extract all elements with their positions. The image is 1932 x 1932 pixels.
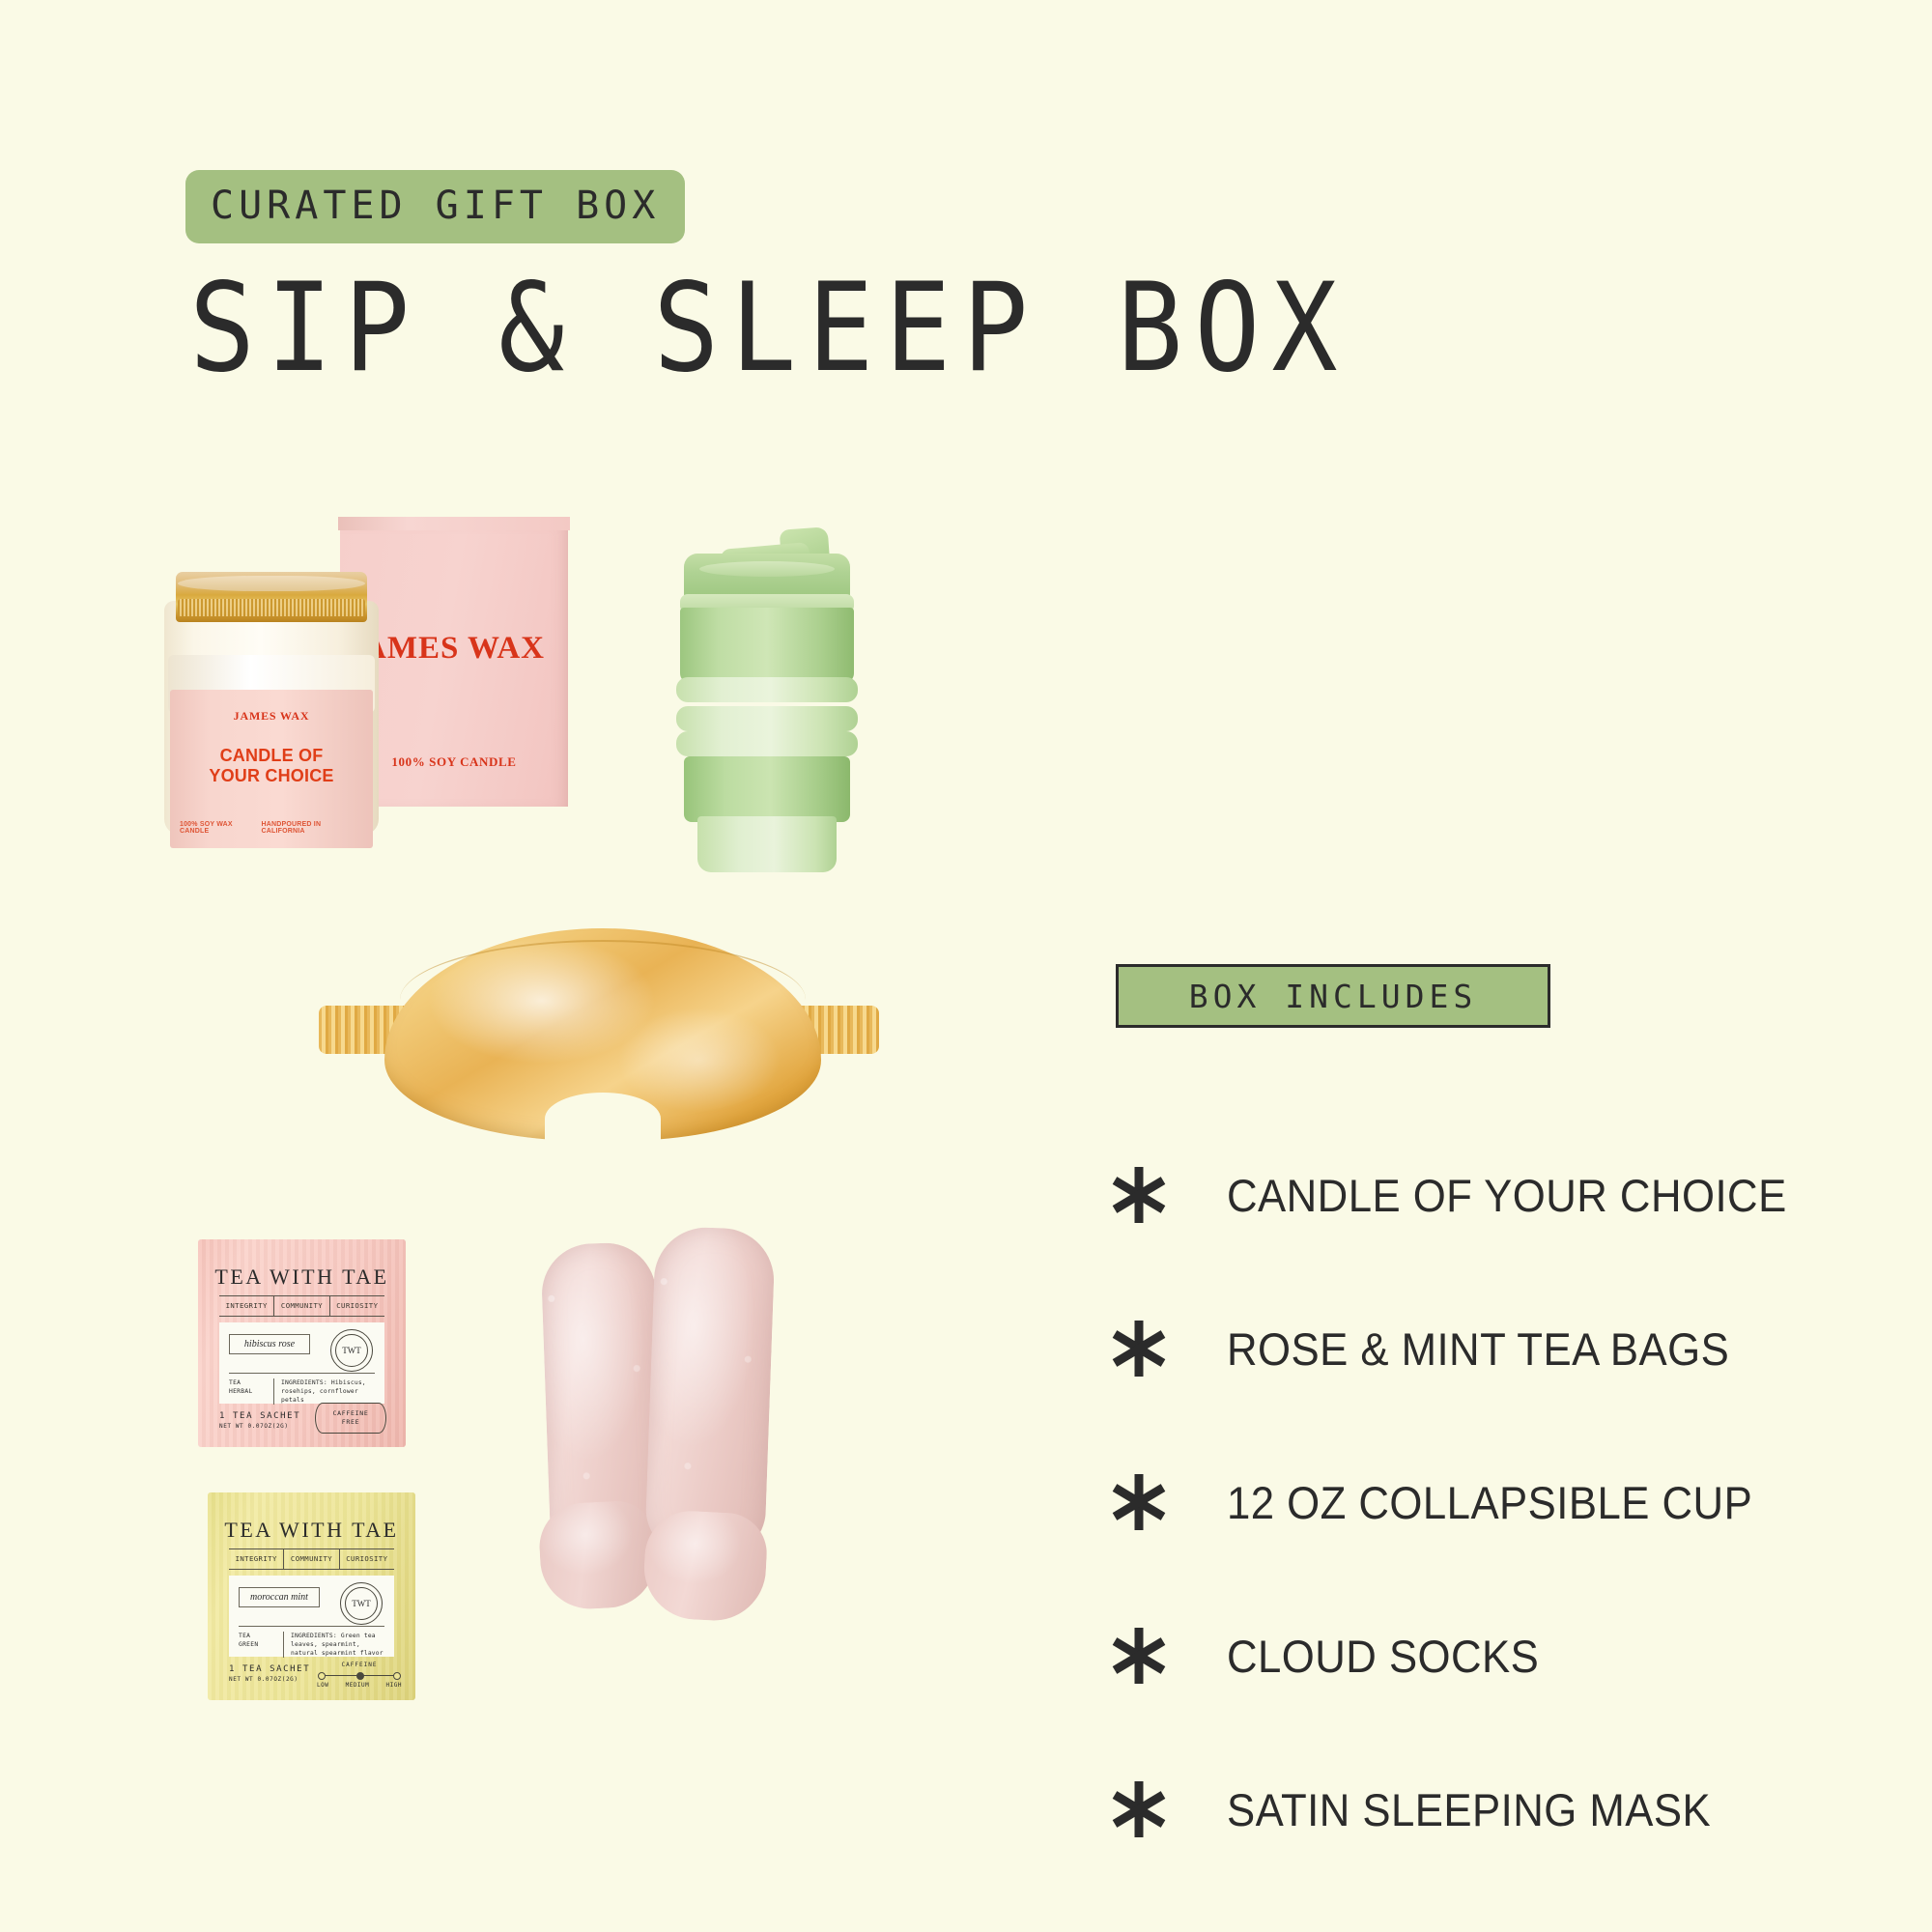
caffeine-label-high: HIGH <box>386 1682 402 1689</box>
sachet-type-line2-yellow: GREEN <box>239 1640 279 1649</box>
caffeine-dot-high <box>393 1672 401 1680</box>
cup-fold-ring <box>676 706 858 731</box>
sachet-seal-icon-yellow: TWT <box>340 1582 383 1625</box>
list-item-label: 12 OZ COLLAPSIBLE CUP <box>1227 1476 1752 1529</box>
sachet-brand-yellow: TEA WITH TAE <box>208 1518 415 1543</box>
caffeine-dot-medium <box>356 1672 364 1680</box>
candle-jar-headline-line1: CANDLE OF <box>170 746 373 766</box>
sachet-caffeine-line1: CAFFEINE <box>333 1409 369 1418</box>
sachet-brand-pink: TEA WITH TAE <box>198 1264 406 1290</box>
cup-fold-ring <box>676 677 858 702</box>
tea-sachet-moroccan-mint: TEA WITH TAE INTEGRITY COMMUNITY CURIOSI… <box>208 1492 415 1700</box>
sachet-count-yellow: 1 TEA SACHET <box>229 1664 310 1674</box>
candle-jar-headline-line2: YOUR CHOICE <box>170 766 373 786</box>
sachet-caffeine-free-badge: CAFFEINE FREE <box>315 1403 386 1434</box>
sachet-value-integrity: INTEGRITY <box>219 1296 273 1316</box>
sachet-info-card-pink: hibiscus rose TWT TEA HERBAL INGREDIENTS… <box>219 1322 384 1404</box>
tea-sachet-hibiscus-rose: TEA WITH TAE INTEGRITY COMMUNITY CURIOSI… <box>198 1239 406 1447</box>
list-item: SATIN SLEEPING MASK <box>1101 1772 1855 1847</box>
box-includes-heading: BOX INCLUDES <box>1116 964 1550 1028</box>
sachet-type-yellow: TEA GREEN <box>239 1632 279 1649</box>
candle-jar-footnotes: 100% SOY WAX CANDLE HANDPOURED IN CALIFO… <box>180 821 363 835</box>
asterisk-icon <box>1101 1472 1177 1532</box>
sachet-ingredients-yellow: INGREDIENTS: Green tea leaves, spearmint… <box>283 1632 386 1658</box>
sachet-caffeine-line2: FREE <box>342 1418 359 1427</box>
sachet-caffeine-scale-bar <box>317 1672 402 1680</box>
cup-upper-body <box>680 608 854 683</box>
candle-jar-brand: JAMES WAX <box>170 709 373 724</box>
candle-jar-footnote-right: HANDPOURED IN CALIFORNIA <box>261 821 363 835</box>
sock-left-foot <box>537 1499 659 1611</box>
sachet-value-community: COMMUNITY <box>283 1549 338 1569</box>
sachet-seal-monogram-pink: TWT <box>331 1330 372 1371</box>
asterisk-icon <box>1101 1319 1177 1378</box>
sachet-footer-pink: 1 TEA SACHET NET WT 0.07OZ(2G) <box>219 1411 300 1430</box>
sock-right <box>644 1226 776 1558</box>
sock-right-foot <box>641 1509 769 1623</box>
sachet-values-pink: INTEGRITY COMMUNITY CURIOSITY <box>219 1295 384 1317</box>
sachet-value-community: COMMUNITY <box>273 1296 328 1316</box>
satin-sleep-mask <box>319 923 879 1150</box>
cloud-socks <box>536 1222 816 1637</box>
candle-jar-headline: CANDLE OF YOUR CHOICE <box>170 746 373 786</box>
collapsible-cup <box>676 526 860 874</box>
sachet-seal-monogram-yellow: TWT <box>341 1583 382 1624</box>
list-item-label: ROSE & MINT TEA BAGS <box>1227 1322 1729 1376</box>
list-item: CLOUD SOCKS <box>1101 1618 1855 1693</box>
sachet-divider-yellow <box>239 1626 384 1627</box>
list-item-label: SATIN SLEEPING MASK <box>1227 1783 1711 1836</box>
asterisk-icon <box>1101 1626 1177 1686</box>
caffeine-label-medium: MEDIUM <box>346 1682 370 1689</box>
caffeine-label-low: LOW <box>317 1682 328 1689</box>
box-includes-list: CANDLE OF YOUR CHOICE ROSE & MINT TEA BA… <box>1101 1157 1855 1847</box>
eyebrow-badge-label: CURATED GIFT BOX <box>211 186 660 225</box>
list-item: 12 OZ COLLAPSIBLE CUP <box>1101 1464 1855 1540</box>
box-includes-label: BOX INCLUDES <box>1189 978 1477 1015</box>
sachet-netwt-yellow: NET WT 0.07OZ(2G) <box>229 1676 310 1683</box>
candle-box-lid-edge <box>338 517 570 530</box>
asterisk-icon <box>1101 1779 1177 1839</box>
sachet-flavor-yellow: moroccan mint <box>239 1587 320 1607</box>
candle-jar-footnote-left: 100% SOY WAX CANDLE <box>180 821 261 835</box>
sachet-type-line1-pink: TEA <box>229 1378 270 1387</box>
sachet-type-pink: TEA HERBAL <box>229 1378 270 1396</box>
list-item-label: CLOUD SOCKS <box>1227 1630 1539 1683</box>
sachet-value-integrity: INTEGRITY <box>229 1549 283 1569</box>
poster-canvas: CURATED GIFT BOX SIP & SLEEP BOX AMES WA… <box>0 0 1932 1932</box>
candle-jar-label: JAMES WAX CANDLE OF YOUR CHOICE 100% SOY… <box>170 690 373 848</box>
sachet-seal-icon-pink: TWT <box>330 1329 373 1372</box>
caffeine-dot-low <box>318 1672 326 1680</box>
sachet-type-line1-yellow: TEA <box>239 1632 279 1640</box>
sachet-count-pink: 1 TEA SACHET <box>219 1411 300 1421</box>
page-title: SIP & SLEEP BOX <box>189 261 1349 395</box>
cup-fold-ring <box>676 731 858 756</box>
sachet-caffeine-scale-header: CAFFEINE <box>317 1662 402 1668</box>
sachet-values-yellow: INTEGRITY COMMUNITY CURIOSITY <box>229 1548 394 1570</box>
sachet-info-card-yellow: moroccan mint TWT TEA GREEN INGREDIENTS:… <box>229 1576 394 1657</box>
candle-jar: JAMES WAX CANDLE OF YOUR CHOICE 100% SOY… <box>164 572 379 835</box>
sachet-footer-yellow: 1 TEA SACHET NET WT 0.07OZ(2G) <box>229 1664 310 1683</box>
sachet-netwt-pink: NET WT 0.07OZ(2G) <box>219 1423 300 1430</box>
sachet-flavor-pink: hibiscus rose <box>229 1334 310 1354</box>
cup-lower-body <box>684 756 850 822</box>
sachet-value-curiosity: CURIOSITY <box>339 1549 394 1569</box>
sachet-type-line2-pink: HERBAL <box>229 1387 270 1396</box>
candle-jar-lid-knurling <box>178 599 365 616</box>
asterisk-icon <box>1101 1165 1177 1225</box>
sachet-caffeine-scale-labels: LOW MEDIUM HIGH <box>317 1682 402 1689</box>
candle-jar-glass: JAMES WAX CANDLE OF YOUR CHOICE 100% SOY… <box>164 601 379 835</box>
cup-base <box>697 816 837 872</box>
list-item-label: CANDLE OF YOUR CHOICE <box>1227 1169 1787 1222</box>
sleep-mask-seam <box>400 940 806 1000</box>
sachet-caffeine-scale: CAFFEINE LOW MEDIUM HIGH <box>317 1662 402 1689</box>
list-item: ROSE & MINT TEA BAGS <box>1101 1311 1855 1386</box>
list-item: CANDLE OF YOUR CHOICE <box>1101 1157 1855 1233</box>
sachet-value-curiosity: CURIOSITY <box>329 1296 384 1316</box>
eyebrow-badge: CURATED GIFT BOX <box>185 170 685 243</box>
sachet-ingredients-pink: INGREDIENTS: Hibiscus, rosehips, cornflo… <box>273 1378 377 1405</box>
sachet-divider-pink <box>229 1373 375 1374</box>
